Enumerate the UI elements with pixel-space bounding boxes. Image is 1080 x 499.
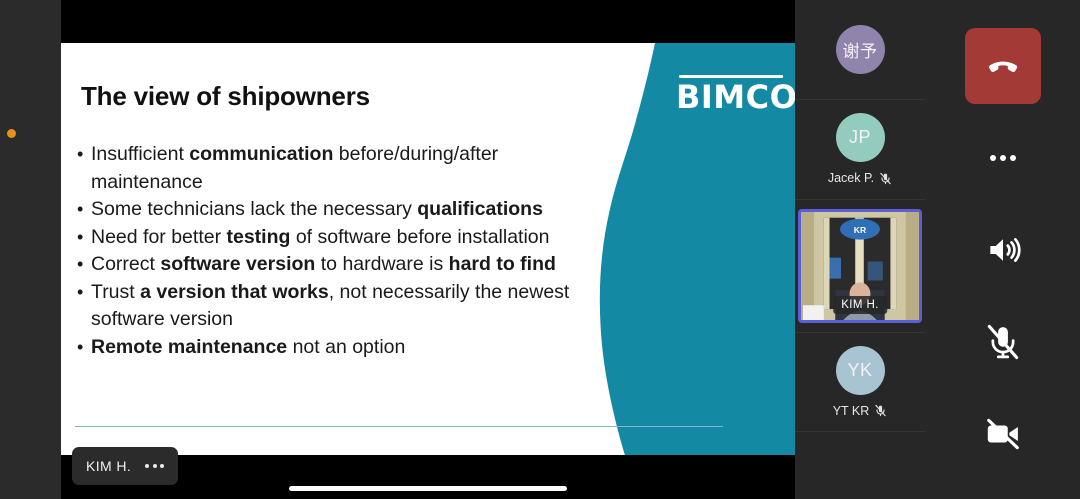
- more-options-button[interactable]: [965, 120, 1041, 196]
- participant-label: YT KR: [833, 404, 888, 418]
- camera-off-icon: [984, 415, 1022, 453]
- bimco-logo-text: BIMCO: [676, 80, 786, 114]
- video-call-screen: The view of shipowners Insufficient comm…: [0, 0, 1080, 499]
- avatar: YK: [836, 346, 885, 395]
- microphone-off-icon: [874, 404, 887, 417]
- slide-bullet-item: Remote maintenance not an option: [75, 334, 595, 362]
- video-tile-name: KIM H.: [833, 296, 887, 314]
- hangup-icon: [984, 47, 1022, 85]
- presentation-slide: The view of shipowners Insufficient comm…: [61, 43, 795, 455]
- participant-tile-1[interactable]: JP Jacek P.: [795, 100, 925, 200]
- slide-bullet-item: Some technicians lack the necessary qual…: [75, 196, 595, 224]
- participant-name: Jacek P.: [828, 171, 874, 185]
- presenter-name-pill[interactable]: KIM H.: [72, 447, 178, 485]
- left-edge-strip: [0, 0, 61, 499]
- shared-screen-stage[interactable]: The view of shipowners Insufficient comm…: [61, 0, 795, 499]
- camera-button[interactable]: [965, 396, 1041, 472]
- speaker-on-icon: [984, 231, 1022, 269]
- slide-title: The view of shipowners: [81, 81, 370, 112]
- call-controls[interactable]: [925, 0, 1080, 499]
- microphone-off-icon: [879, 172, 892, 185]
- more-horizontal-icon: [986, 141, 1020, 175]
- slide-bullet-item: Trust a version that works, not necessar…: [75, 279, 595, 334]
- video-tile[interactable]: KR KIM H.: [798, 209, 922, 323]
- participant-name: YT KR: [833, 404, 870, 418]
- presenter-name-label: KIM H.: [86, 458, 131, 474]
- participant-tile-3[interactable]: YK YT KR: [795, 333, 925, 433]
- avatar: JP: [836, 113, 885, 162]
- svg-text:KR: KR: [854, 225, 866, 235]
- home-indicator: [289, 486, 567, 491]
- participant-label: Jacek P.: [828, 171, 892, 185]
- participant-tile-2-active[interactable]: KR KIM H.: [795, 200, 925, 333]
- avatar: 谢予: [836, 25, 885, 74]
- slide-divider-rule: [75, 426, 723, 427]
- slide-bullet-list: Insufficient communication before/during…: [75, 141, 595, 361]
- slide-bullet-item: Insufficient communication before/during…: [75, 141, 595, 196]
- participant-tile-0[interactable]: 谢予: [795, 0, 925, 100]
- end-call-button[interactable]: [965, 28, 1041, 104]
- bimco-logo: BIMCO: [676, 75, 786, 114]
- participant-rail[interactable]: 谢予 JP Jacek P.: [795, 0, 925, 499]
- microphone-off-icon: [984, 323, 1022, 361]
- speaker-button[interactable]: [965, 212, 1041, 288]
- recording-indicator-dot: [7, 129, 16, 138]
- microphone-button[interactable]: [965, 304, 1041, 380]
- more-horizontal-icon[interactable]: [145, 464, 164, 468]
- slide-bullet-item: Correct software version to hardware is …: [75, 251, 595, 279]
- slide-bullet-item: Need for better testing of software befo…: [75, 224, 595, 252]
